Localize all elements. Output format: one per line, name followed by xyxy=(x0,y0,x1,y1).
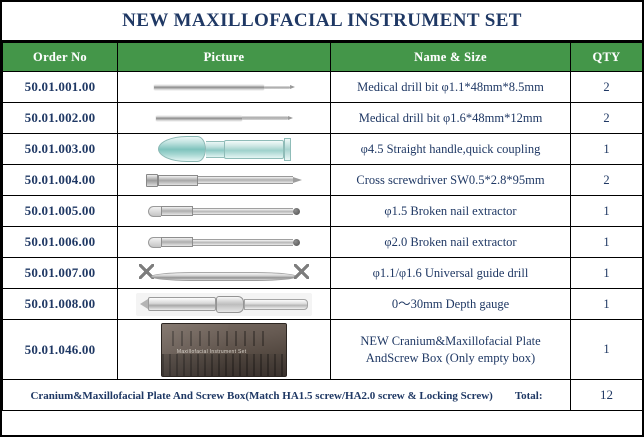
cell-qty: 2 xyxy=(571,103,643,134)
column-header-name-size[interactable]: Name & Size xyxy=(331,43,571,72)
table-body: 50.01.001.00 Medical drill bit φ1.1*48mm… xyxy=(3,72,643,411)
page-title: NEW MAXILLOFACIAL INSTRUMENT SET xyxy=(122,10,522,32)
cell-order-no: 50.01.008.00 xyxy=(3,289,118,320)
cell-order-no: 50.01.002.00 xyxy=(3,103,118,134)
footer-total-label: Total: xyxy=(511,390,547,402)
cell-picture xyxy=(118,196,331,227)
cell-qty: 1 xyxy=(571,134,643,165)
cell-name-size: φ4.5 Straight handle,quick coupling xyxy=(331,134,571,165)
cell-picture xyxy=(118,134,331,165)
cell-order-no: 50.01.007.00 xyxy=(3,258,118,289)
cell-order-no: 50.01.005.00 xyxy=(3,196,118,227)
cell-name-size-line1: NEW Cranium&Maxillofacial Plate xyxy=(331,333,570,350)
table-row[interactable]: 50.01.001.00 Medical drill bit φ1.1*48mm… xyxy=(3,72,643,103)
table-row[interactable]: 50.01.004.00 Cross screwdriver SW0.5*2.8… xyxy=(3,165,643,196)
drill-bit-1-1-icon xyxy=(118,74,330,100)
broken-nail-extractor-2-0-icon xyxy=(118,229,330,255)
cell-name-size: Medical drill bit φ1.6*48mm*12mm xyxy=(331,103,571,134)
table-row[interactable]: 50.01.008.00 0～30mm Depth gauge 1 xyxy=(3,289,643,320)
catalog-sheet: NEW MAXILLOFACIAL INSTRUMENT SET Order N… xyxy=(0,0,644,437)
table-row[interactable]: 50.01.002.00 Medical drill bit φ1.6*48mm… xyxy=(3,103,643,134)
cell-picture xyxy=(118,165,331,196)
table-footer-row: Cranium&Maxillofacial Plate And Screw Bo… xyxy=(3,380,643,411)
table-row[interactable]: 50.01.003.00 φ4.5 Straight handle,quick … xyxy=(3,134,643,165)
page-title-bar: NEW MAXILLOFACIAL INSTRUMENT SET xyxy=(2,2,642,42)
table-header: Order No Picture Name & Size QTY xyxy=(3,43,643,72)
cell-name-size: 0～30mm Depth gauge xyxy=(331,289,571,320)
cell-order-no: 50.01.006.00 xyxy=(3,227,118,258)
depth-gauge-icon xyxy=(118,291,330,317)
cell-qty: 2 xyxy=(571,165,643,196)
cell-qty: 1 xyxy=(571,196,643,227)
cell-qty: 1 xyxy=(571,289,643,320)
cell-name-size: NEW Cranium&Maxillofacial Plate AndScrew… xyxy=(331,320,571,380)
table-row[interactable]: 50.01.046.00 Maxillofacial Instrument Se… xyxy=(3,320,643,380)
column-header-picture[interactable]: Picture xyxy=(118,43,331,72)
cell-order-no: 50.01.004.00 xyxy=(3,165,118,196)
universal-guide-drill-icon xyxy=(118,260,330,286)
cell-name-size: Medical drill bit φ1.1*48mm*8.5mm xyxy=(331,72,571,103)
cell-qty: 2 xyxy=(571,72,643,103)
table-row[interactable]: 50.01.006.00 φ2.0 Broken nail extractor … xyxy=(3,227,643,258)
cell-qty: 1 xyxy=(571,227,643,258)
drill-bit-1-6-icon xyxy=(118,105,330,131)
cell-name-size: φ1.1/φ1.6 Universal guide drill xyxy=(331,258,571,289)
cell-order-no: 50.01.003.00 xyxy=(3,134,118,165)
cell-picture xyxy=(118,72,331,103)
column-header-qty[interactable]: QTY xyxy=(571,43,643,72)
cell-name-size: φ1.5 Broken nail extractor xyxy=(331,196,571,227)
straight-handle-icon xyxy=(118,136,330,162)
cell-name-size: Cross screwdriver SW0.5*2.8*95mm xyxy=(331,165,571,196)
cell-order-no: 50.01.001.00 xyxy=(3,72,118,103)
cell-picture: Maxillofacial Instrument Set xyxy=(118,320,331,380)
cell-name-size: φ2.0 Broken nail extractor xyxy=(331,227,571,258)
instrument-table: Order No Picture Name & Size QTY 50.01.0… xyxy=(2,42,643,411)
footer-description: Cranium&Maxillofacial Plate And Screw Bo… xyxy=(26,390,496,402)
column-header-order-no[interactable]: Order No xyxy=(3,43,118,72)
cell-order-no: 50.01.046.00 xyxy=(3,320,118,380)
instrument-box-icon: Maxillofacial Instrument Set xyxy=(118,323,330,377)
table-row[interactable]: 50.01.007.00 φ1.1/φ1.6 Universal guide d… xyxy=(3,258,643,289)
table-header-row: Order No Picture Name & Size QTY xyxy=(3,43,643,72)
broken-nail-extractor-1-5-icon xyxy=(118,198,330,224)
cell-qty: 1 xyxy=(571,258,643,289)
cell-name-size-line2: AndScrew Box (Only empty box) xyxy=(331,350,570,367)
cell-picture xyxy=(118,103,331,134)
table-row[interactable]: 50.01.005.00 φ1.5 Broken nail extractor … xyxy=(3,196,643,227)
cell-qty: 1 xyxy=(571,320,643,380)
cell-picture xyxy=(118,289,331,320)
cross-screwdriver-icon xyxy=(118,167,330,193)
cell-picture xyxy=(118,227,331,258)
footer-description-cell: Cranium&Maxillofacial Plate And Screw Bo… xyxy=(3,380,571,411)
cell-picture xyxy=(118,258,331,289)
footer-total-value: 12 xyxy=(571,380,643,411)
